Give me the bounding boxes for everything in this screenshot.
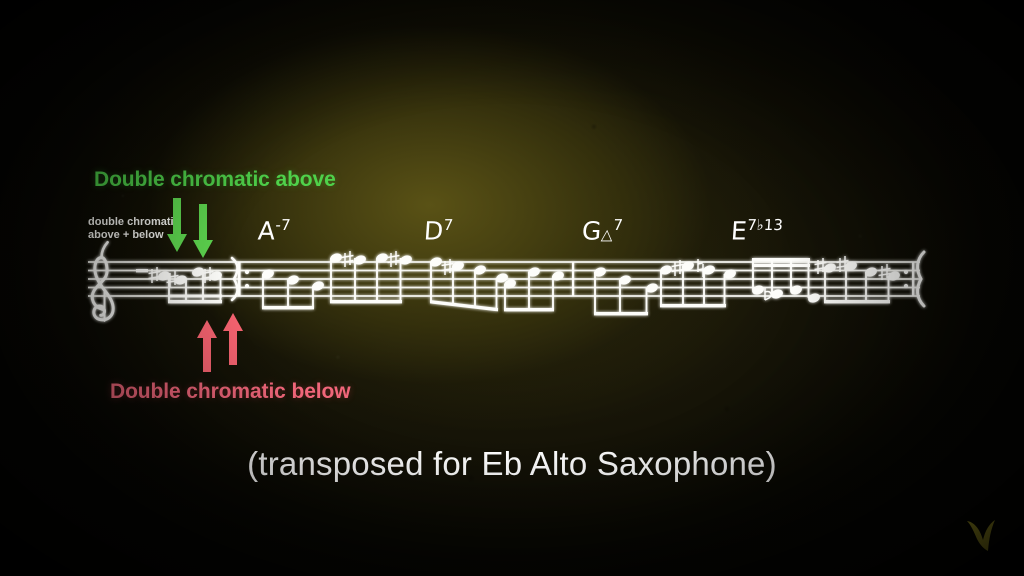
note-group-6 [593,266,659,316]
caption-transposition: (transposed for Eb Alto Saxophone) [0,445,1024,483]
chord-root: D [423,216,444,245]
pink-arrow-2 [222,313,244,365]
note-group-1 [149,266,224,304]
chord-root: E [730,216,748,245]
slide-root: A-7 D7 G△7 E7♭13 double chromatic above … [0,0,1024,576]
chord-ext: 7 [443,216,454,234]
green-arrow-1 [166,198,188,254]
note-group-7 [659,259,737,307]
chord-symbol-a-minor-7: A-7 [257,218,291,243]
note-group-5 [503,266,565,312]
rest [136,269,148,272]
chord-ext: 7 [613,216,624,234]
chord-symbol-g-major-7: G△7 [581,218,623,243]
treble-clef [92,242,113,321]
pink-arrow-1 [196,320,218,372]
chord-root: G [581,216,602,245]
note-group-2 [261,268,325,310]
v-logo [964,513,1000,560]
green-arrow-2 [192,204,214,260]
note-group-8 [751,258,821,304]
chord-ext: 7♭13 [747,216,784,234]
chord-symbol-d7: D7 [423,218,454,243]
chord-triangle: △ [600,225,613,243]
chord-root: A [257,216,276,245]
chord-symbol-e7-flat-13: E7♭13 [730,218,783,243]
note-group-4 [429,256,509,312]
barline-2 [572,262,574,296]
chord-ext: 7 [280,216,291,234]
label-double-chromatic-below: Double chromatic below [110,380,351,404]
label-double-chromatic-above: Double chromatic above [94,168,336,192]
music-score [0,0,1024,576]
